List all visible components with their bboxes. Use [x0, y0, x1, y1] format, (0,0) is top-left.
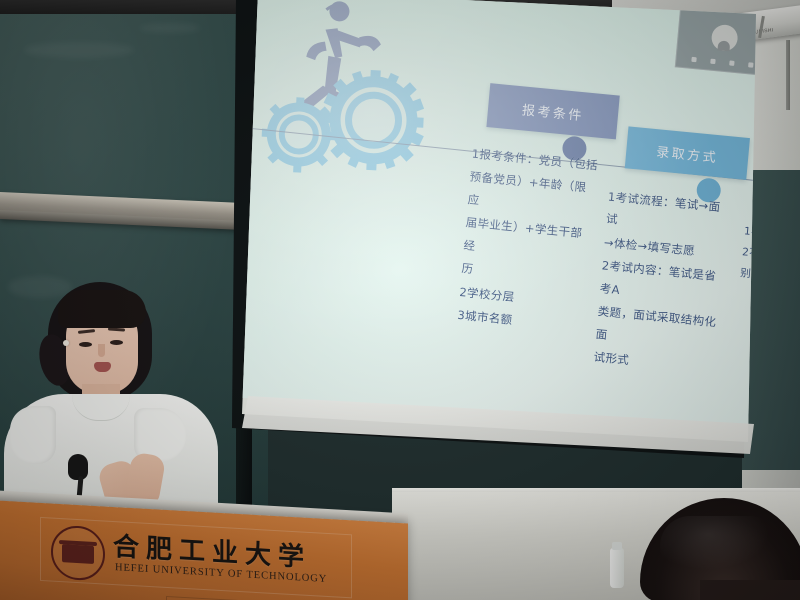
section-header-1: 报考条件 — [486, 83, 619, 139]
section-header-2: 录取方式 — [625, 126, 750, 180]
mic-icon[interactable] — [691, 57, 696, 62]
section-body-2: 1考试流程：笔试→面试 →体检→填写志愿 2考试内容：笔试是省考A 类题，面试采… — [593, 186, 733, 381]
participant-avatar-icon — [711, 24, 739, 52]
chalk-tray-under — [0, 210, 240, 230]
runner-on-gears-illustration — [253, 0, 446, 181]
audience-shoulder — [700, 580, 800, 600]
mouth — [94, 362, 111, 372]
university-crest-icon — [51, 525, 105, 582]
lecture-hall-photo: MITSUBISHI 省选调生 — [0, 0, 800, 600]
more-icon[interactable] — [748, 62, 753, 67]
presentation-slide: 省选调生 — [195, 0, 795, 425]
earring — [63, 340, 69, 346]
bottle-cap — [612, 542, 622, 550]
projection-screen: 省选调生 — [236, 0, 756, 460]
share-icon[interactable] — [729, 60, 734, 65]
blouse-ruffle-left — [10, 406, 56, 464]
section-body-1: 1报考条件：党员（包括 预备党员）+年龄（限应 届毕业生）+学生干部经 历 2学… — [456, 143, 600, 340]
video-controls[interactable] — [676, 55, 768, 69]
chalk-tray — [0, 192, 243, 229]
podium-panel — [166, 596, 298, 600]
camera-icon[interactable] — [710, 59, 715, 64]
hair-fringe — [58, 290, 146, 328]
university-plaque: 合肥工业大学 HEFEI UNIVERSITY OF TECHNOLOGY — [40, 517, 352, 598]
nose — [98, 344, 105, 357]
screen-side-rail — [786, 40, 790, 110]
water-bottle — [610, 548, 624, 588]
